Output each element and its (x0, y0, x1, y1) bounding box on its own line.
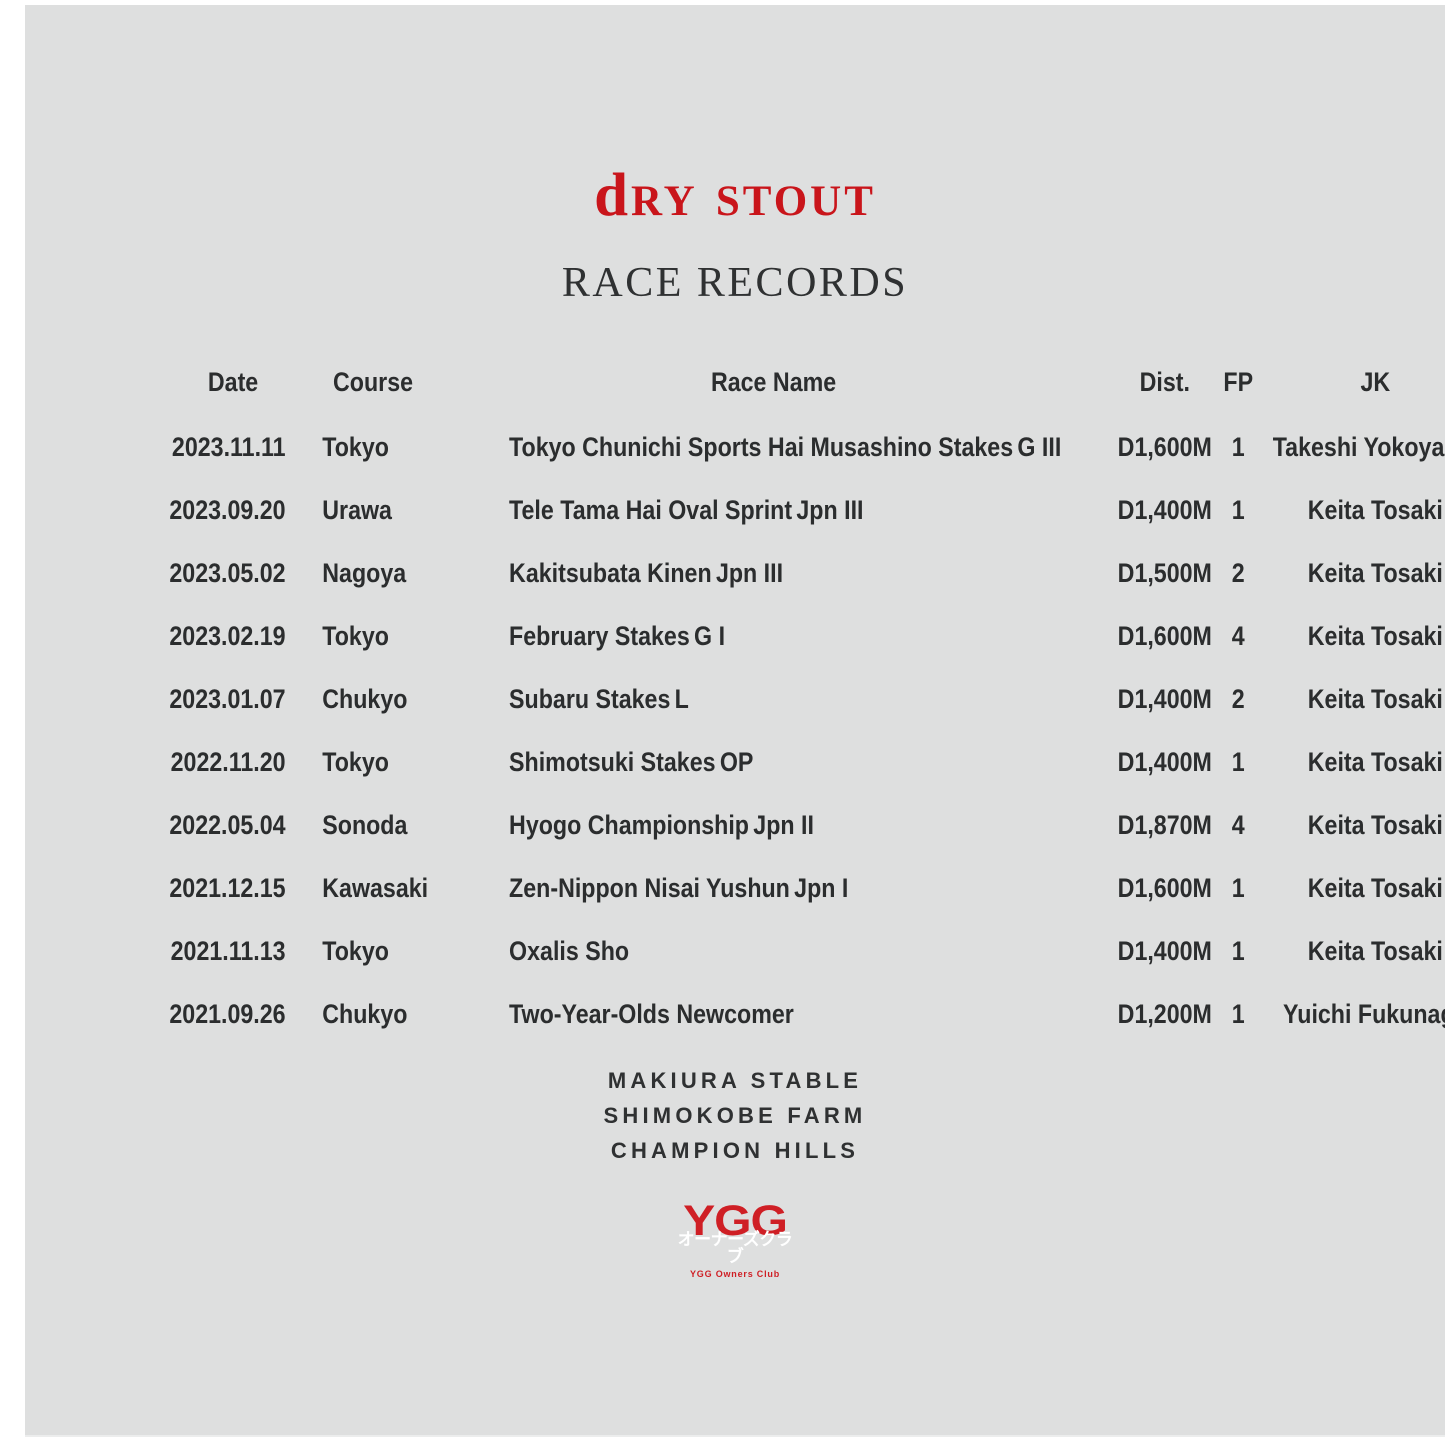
race-name-text: Oxalis Sho (509, 936, 629, 966)
cell-date: 2021.09.26 (169, 983, 298, 1046)
race-name-text: Subaru Stakes (509, 684, 670, 714)
race-name-text: Zen-Nippon Nisai Yushun (509, 873, 790, 903)
column-header-fp: FP (1223, 367, 1253, 416)
cell-jockey: Keita Tosaki (1272, 668, 1445, 731)
column-header-course: Course (317, 367, 429, 416)
cell-distance: D1,600M (1117, 605, 1213, 668)
cell-date: 2023.09.20 (169, 479, 298, 542)
cell-jockey: Keita Tosaki (1272, 605, 1445, 668)
cell-jockey: Keita Tosaki (1272, 479, 1445, 542)
cell-course: Chukyo (317, 983, 429, 1046)
credit-line: SHIMOKOBE FARM (25, 1098, 1445, 1133)
cell-date: 2023.02.19 (169, 605, 298, 668)
cell-course: Tokyo (317, 731, 429, 794)
credits-block: MAKIURA STABLESHIMOKOBE FARMCHAMPION HIL… (25, 1063, 1445, 1168)
race-grade-badge: OP (716, 747, 754, 777)
cell-distance: D1,500M (1117, 542, 1213, 605)
credit-line: MAKIURA STABLE (25, 1063, 1445, 1098)
cell-distance: D1,400M (1117, 668, 1213, 731)
race-grade-badge: Jpn II (749, 810, 814, 840)
cell-race-name: February StakesG I (485, 605, 1062, 668)
cell-finish-position: 2 (1223, 668, 1253, 731)
cell-course: Tokyo (317, 416, 429, 479)
race-grade-badge: G I (690, 621, 725, 651)
page-title: Dry Stout (25, 5, 1445, 226)
race-grade-badge: Jpn III (712, 558, 783, 588)
title-block: Dry Stout RACE RECORDS (25, 5, 1445, 304)
credit-line: CHAMPION HILLS (25, 1133, 1445, 1168)
race-name-text: Kakitsubata Kinen (509, 558, 712, 588)
cell-course: Nagoya (317, 542, 429, 605)
cell-jockey: Keita Tosaki (1272, 731, 1445, 794)
cell-race-name: Shimotsuki StakesOP (485, 731, 1062, 794)
cell-date: 2023.11.11 (169, 416, 298, 479)
cell-finish-position: 1 (1223, 731, 1253, 794)
cell-date: 2021.11.13 (169, 920, 298, 983)
table-row: 2021.12.15KawasakiZen-Nippon Nisai Yushu… (158, 857, 1445, 920)
column-header-dist: Dist. (1117, 367, 1213, 416)
cell-course: Tokyo (317, 605, 429, 668)
cell-jockey: Takeshi Yokoyama (1272, 416, 1445, 479)
ygg-logo: YGG オーナーズクラブ YGG Owners Club (25, 1201, 1445, 1282)
race-name-text: Tele Tama Hai Oval Sprint (509, 495, 792, 525)
cell-jockey: Yuichi Fukunaga (1272, 983, 1445, 1046)
cell-race-name: Kakitsubata KinenJpn III (485, 542, 1062, 605)
race-grade-badge: L (671, 684, 689, 714)
cell-distance: D1,200M (1117, 983, 1213, 1046)
table-row: 2022.05.04SonodaHyogo ChampionshipJpn II… (158, 794, 1445, 857)
cell-finish-position: 1 (1223, 857, 1253, 920)
cell-date: 2021.12.15 (169, 857, 298, 920)
cell-finish-position: 1 (1223, 983, 1253, 1046)
logo-subtext: YGG Owners Club (675, 1268, 795, 1280)
cell-distance: D1,600M (1117, 857, 1213, 920)
race-name-text: Hyogo Championship (509, 810, 749, 840)
cell-finish-position: 1 (1223, 920, 1253, 983)
table-row: 2023.01.07ChukyoSubaru StakesLD1,400M2Ke… (158, 668, 1445, 731)
cell-finish-position: 4 (1223, 605, 1253, 668)
race-name-text: Two-Year-Olds Newcomer (509, 999, 794, 1029)
cell-race-name: Tele Tama Hai Oval SprintJpn III (485, 479, 1062, 542)
cell-jockey: Keita Tosaki (1272, 542, 1445, 605)
cell-race-name: Oxalis Sho (485, 920, 1062, 983)
cell-course: Sonoda (317, 794, 429, 857)
cell-jockey: Keita Tosaki (1272, 794, 1445, 857)
column-header-race: Race Name (485, 367, 1062, 416)
cell-race-name: Two-Year-Olds Newcomer (485, 983, 1062, 1046)
race-grade-badge: Jpn I (790, 873, 848, 903)
race-name-text: Tokyo Chunichi Sports Hai Musashino Stak… (509, 432, 1013, 462)
column-header-jk: JK (1272, 367, 1445, 416)
cell-course: Chukyo (317, 668, 429, 731)
table-header: Date Course Race Name Dist. FP JK Time (158, 367, 1445, 416)
cell-distance: D1,400M (1117, 920, 1213, 983)
table-row: 2023.09.20UrawaTele Tama Hai Oval Sprint… (158, 479, 1445, 542)
cell-finish-position: 2 (1223, 542, 1253, 605)
race-records-table: Date Course Race Name Dist. FP JK Time 2… (158, 367, 1445, 1046)
bottom-divider (25, 1435, 1445, 1437)
table-row: 2022.11.20TokyoShimotsuki StakesOPD1,400… (158, 731, 1445, 794)
cell-course: Kawasaki (317, 857, 429, 920)
race-grade-badge: Jpn III (792, 495, 863, 525)
cell-date: 2023.01.07 (169, 668, 298, 731)
race-grade-badge: G III (1013, 432, 1061, 462)
table-body: 2023.11.11TokyoTokyo Chunichi Sports Hai… (158, 416, 1445, 1046)
cell-race-name: Tokyo Chunichi Sports Hai Musashino Stak… (485, 416, 1062, 479)
race-name-text: February Stakes (509, 621, 690, 651)
cell-race-name: Subaru StakesL (485, 668, 1062, 731)
page-subtitle: RACE RECORDS (25, 226, 1445, 304)
cell-race-name: Zen-Nippon Nisai YushunJpn I (485, 857, 1062, 920)
record-card: Dry Stout RACE RECORDS Date Course Race … (25, 5, 1445, 1437)
logo-inner: YGG オーナーズクラブ YGG Owners Club (675, 1201, 795, 1267)
cell-course: Urawa (317, 479, 429, 542)
logo-japanese-text: オーナーズクラブ (675, 1232, 795, 1266)
cell-date: 2023.05.02 (169, 542, 298, 605)
cell-distance: D1,600M (1117, 416, 1213, 479)
cell-finish-position: 1 (1223, 479, 1253, 542)
table-row: 2021.09.26ChukyoTwo-Year-Olds NewcomerD1… (158, 983, 1445, 1046)
race-name-text: Shimotsuki Stakes (509, 747, 715, 777)
race-records-table-wrapper: Date Course Race Name Dist. FP JK Time 2… (158, 367, 1358, 1046)
cell-date: 2022.11.20 (169, 731, 298, 794)
cell-distance: D1,870M (1117, 794, 1213, 857)
table-row: 2023.02.19TokyoFebruary StakesG ID1,600M… (158, 605, 1445, 668)
cell-distance: D1,400M (1117, 479, 1213, 542)
table-row: 2023.05.02NagoyaKakitsubata KinenJpn III… (158, 542, 1445, 605)
cell-jockey: Keita Tosaki (1272, 857, 1445, 920)
cell-jockey: Keita Tosaki (1272, 920, 1445, 983)
cell-finish-position: 1 (1223, 416, 1253, 479)
cell-distance: D1,400M (1117, 731, 1213, 794)
table-row: 2021.11.13TokyoOxalis ShoD1,400M1Keita T… (158, 920, 1445, 983)
cell-course: Tokyo (317, 920, 429, 983)
cell-race-name: Hyogo ChampionshipJpn II (485, 794, 1062, 857)
table-header-row: Date Course Race Name Dist. FP JK Time (158, 367, 1445, 416)
cell-finish-position: 4 (1223, 794, 1253, 857)
column-header-date: Date (169, 367, 298, 416)
cell-date: 2022.05.04 (169, 794, 298, 857)
table-row: 2023.11.11TokyoTokyo Chunichi Sports Hai… (158, 416, 1445, 479)
